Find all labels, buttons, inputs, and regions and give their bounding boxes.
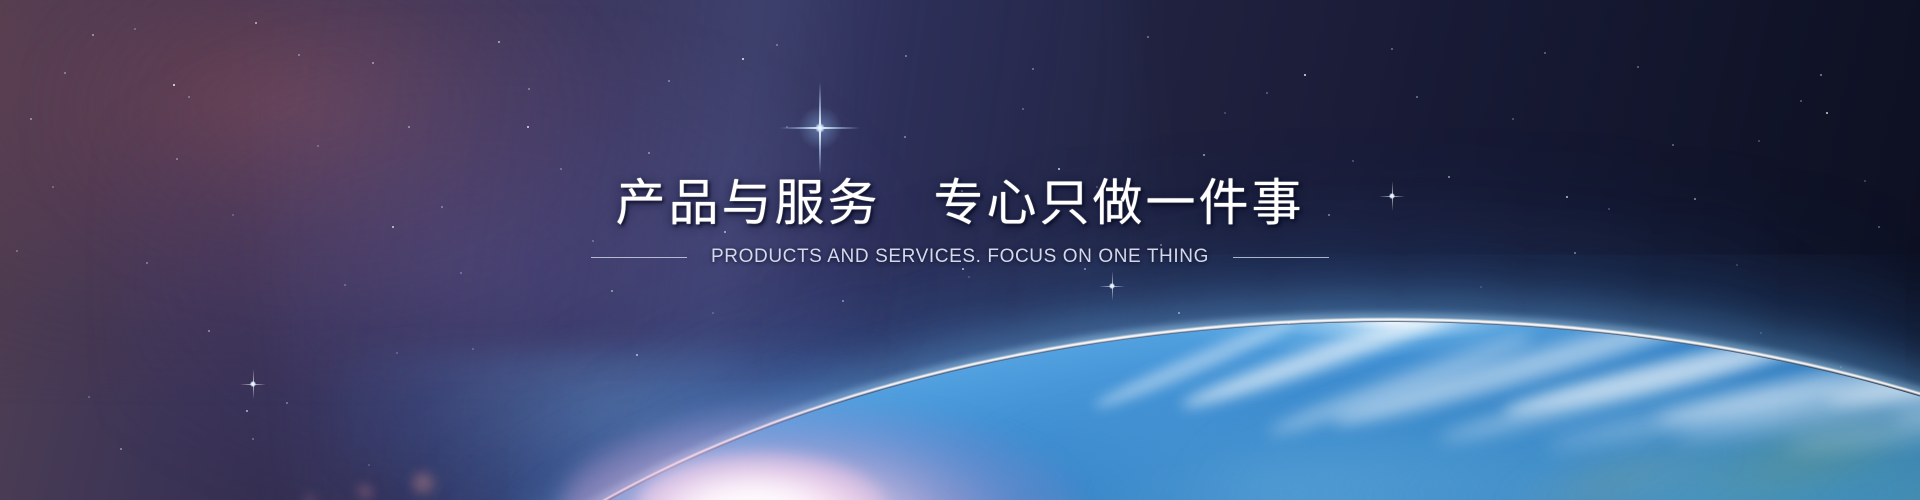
hero-banner: 产品与服务 专心只做一件事 PRODUCTS AND SERVICES. FOC… [0,0,1920,500]
banner-subtitle: PRODUCTS AND SERVICES. FOCUS ON ONE THIN… [711,246,1209,268]
lens-flare-core [1109,283,1115,289]
divider-rule-right [1233,257,1329,258]
lens-ghost-1 [406,470,440,496]
banner-subtitle-row: PRODUCTS AND SERVICES. FOCUS ON ONE THIN… [0,246,1920,268]
banner-headline: 产品与服务 专心只做一件事 [0,178,1920,228]
divider-rule-left [591,257,687,258]
lens-flare-core [250,381,256,387]
lens-flare-core [815,123,825,133]
lens-ghost-3 [300,492,320,500]
lens-ghost-2 [352,482,378,500]
